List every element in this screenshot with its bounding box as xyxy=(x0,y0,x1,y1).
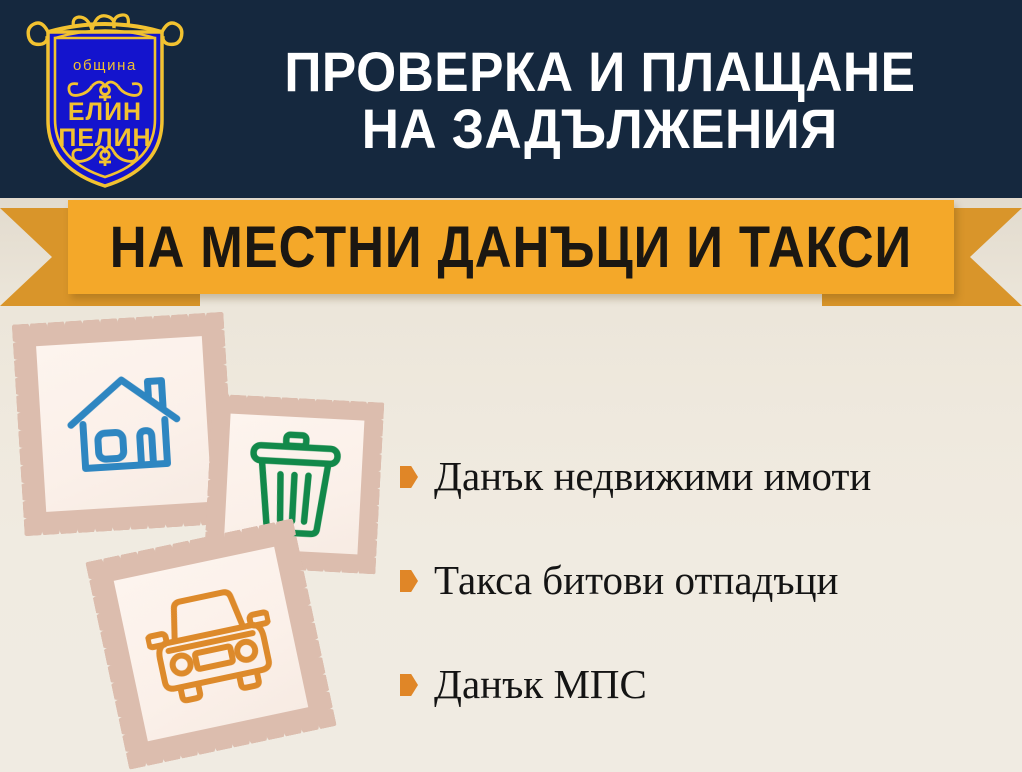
crest-label-name-1: ЕЛИН xyxy=(68,98,142,126)
list-item[interactable]: Данък недвижими имоти xyxy=(400,425,1010,529)
ribbon-text: НА МЕСТНИ ДАНЪЦИ И ТАКСИ xyxy=(110,214,912,281)
ribbon-body: НА МЕСТНИ ДАНЪЦИ И ТАКСИ xyxy=(68,200,954,294)
page-title-line-2: НА ЗАДЪЛЖЕНИЯ xyxy=(362,100,838,157)
stamp-inner xyxy=(36,336,212,512)
page-title: ПРОВЕРКА И ПЛАЩАНЕ НА ЗАДЪЛЖЕНИЯ xyxy=(190,16,1010,184)
crest-label-top: община xyxy=(73,57,137,74)
arrow-bullet-icon xyxy=(400,674,418,696)
arrow-bullet-icon xyxy=(400,570,418,592)
service-list: Данък недвижими имоти Такса битови отпад… xyxy=(400,425,1010,737)
arrow-bullet-icon xyxy=(400,466,418,488)
car-front-icon xyxy=(138,578,284,710)
list-item-label: Данък МПС xyxy=(434,662,647,707)
crest-label-name-2: ПЕЛИН xyxy=(58,124,151,152)
stamp-card-property xyxy=(12,312,237,537)
house-icon xyxy=(62,366,186,481)
list-item[interactable]: Данък МПС xyxy=(400,633,1010,737)
page-title-line-1: ПРОВЕРКА И ПЛАЩАНЕ xyxy=(285,43,916,100)
municipality-crest-logo: община ЕЛИН ПЕЛИН xyxy=(22,8,188,190)
ribbon-banner: НА МЕСТНИ ДАНЪЦИ И ТАКСИ xyxy=(0,196,1022,314)
stamp-inner xyxy=(114,547,309,742)
stamp-card-vehicle xyxy=(85,518,336,769)
list-item[interactable]: Такса битови отпадъци xyxy=(400,529,1010,633)
trash-bin-icon xyxy=(241,428,346,539)
list-item-label: Такса битови отпадъци xyxy=(434,558,838,603)
list-item-label: Данък недвижими имоти xyxy=(434,454,871,499)
poster-canvas: ПРОВЕРКА И ПЛАЩАНЕ НА ЗАДЪЛЖЕНИЯ xyxy=(0,0,1022,772)
